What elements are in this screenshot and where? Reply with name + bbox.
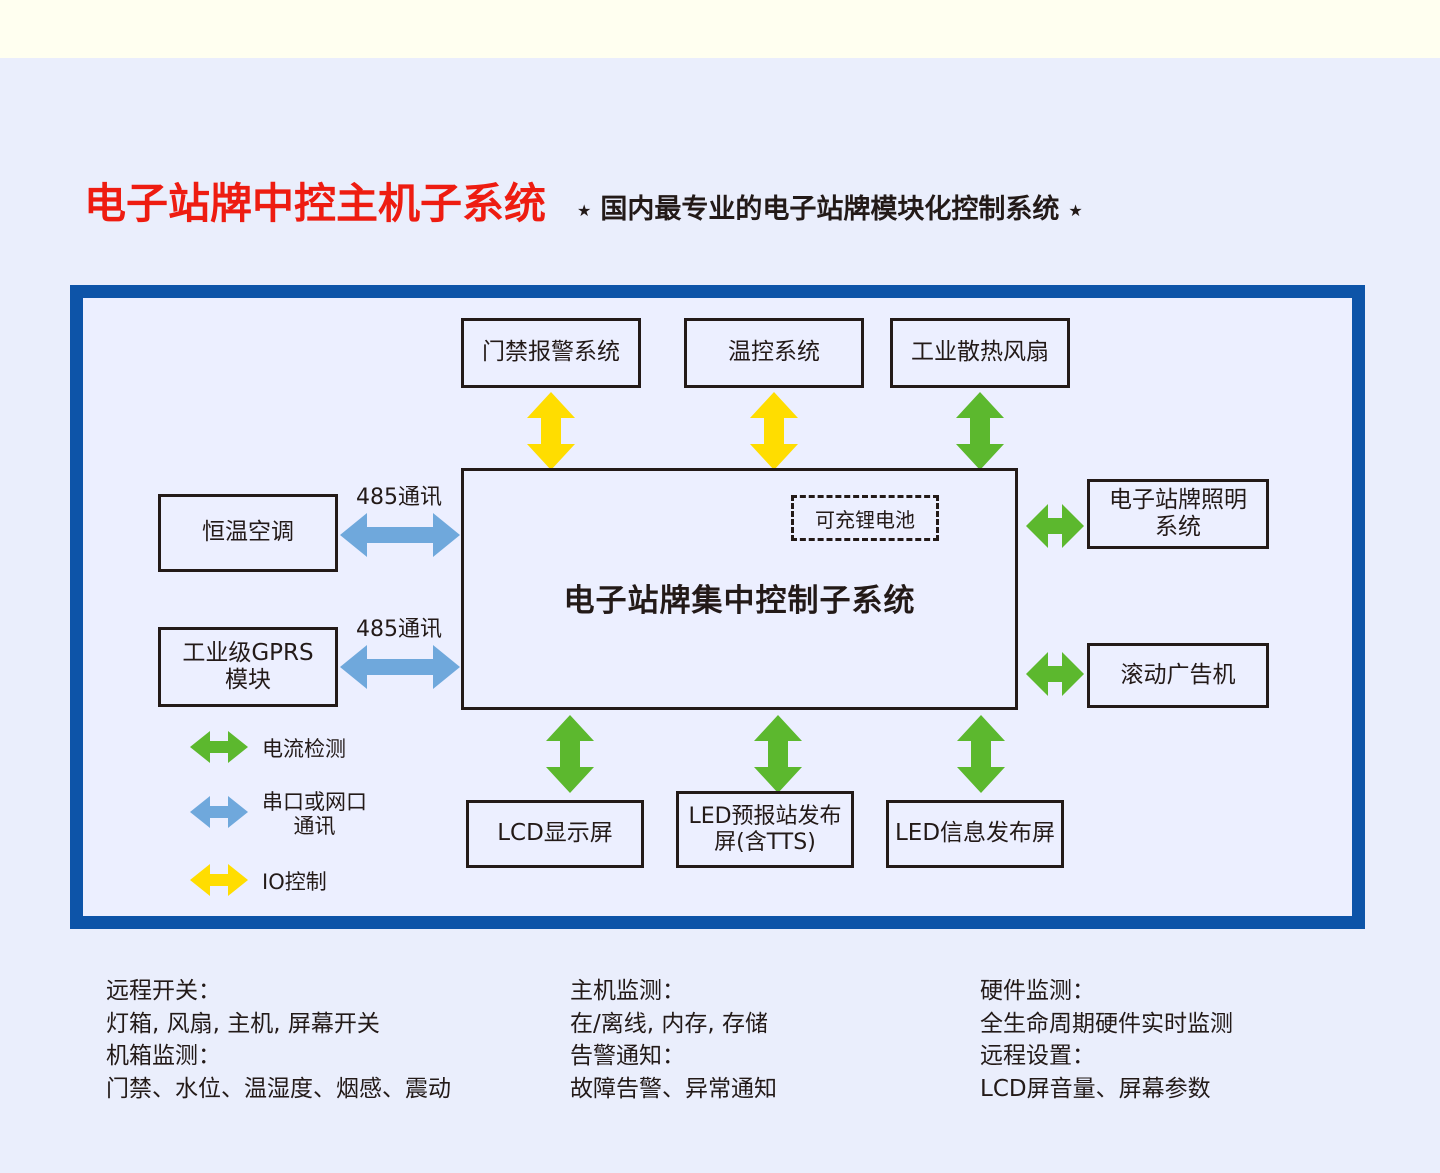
- legend-arrow-yellow-icon: [190, 863, 248, 901]
- node-label: LCD显示屏: [497, 820, 613, 847]
- battery-label: 可充锂电池: [815, 504, 915, 533]
- arrow-current-detect-fan: [954, 392, 1006, 470]
- node-label: 工业级GPRS: [182, 640, 313, 667]
- arrow-serial-gprs: [340, 644, 460, 690]
- node-led-forecast-screen[interactable]: LED预报站发布 屏(含TTS): [676, 791, 854, 868]
- node-label-line2: 屏(含TTS): [688, 830, 841, 856]
- arrow-current-detect-led-forecast: [752, 715, 804, 793]
- footer-line: 主机监测：: [570, 975, 777, 1008]
- footer-line: 故障告警、异常通知: [570, 1073, 777, 1106]
- node-industrial-cooling-fan[interactable]: 工业散热风扇: [890, 318, 1070, 388]
- star-icon-right: ★: [1068, 201, 1082, 220]
- footer-line: 在/离线, 内存, 存储: [570, 1008, 777, 1041]
- arrow-io-control-temperature: [748, 392, 800, 470]
- legend-label-line1: 串口或网口: [262, 790, 367, 814]
- node-label: 工业散热风扇: [911, 339, 1049, 366]
- legend-item-io-control: IO控制: [190, 863, 327, 901]
- node-label-line2: 系统: [1109, 514, 1247, 541]
- node-central-control-subsystem[interactable]: 可充锂电池 电子站牌集中控制子系统: [461, 468, 1018, 710]
- node-scrolling-ad-machine[interactable]: 滚动广告机: [1087, 643, 1269, 708]
- legend-arrow-green-icon: [190, 730, 248, 768]
- page-title-main: 电子站牌中控主机子系统: [84, 183, 546, 225]
- footer-column-hardware-monitoring: 硬件监测： 全生命周期硬件实时监测 远程设置： LCD屏音量、屏幕参数: [980, 975, 1233, 1106]
- footer-line: 硬件监测：: [980, 975, 1233, 1008]
- footer-line: 远程开关：: [106, 975, 451, 1008]
- arrow-current-detect-lcd: [544, 715, 596, 793]
- node-label-line2: 模块: [182, 667, 313, 694]
- footer-line: 门禁、水位、温湿度、烟感、震动: [106, 1073, 451, 1106]
- page-title: 电子站牌中控主机子系统 ★国内最专业的电子站牌模块化控制系统★: [84, 183, 1092, 225]
- link-label-485-gprs: 485通讯: [356, 611, 442, 643]
- node-label: 电子站牌照明: [1109, 487, 1247, 514]
- top-cream-strip: [0, 0, 1440, 58]
- node-temperature-control-system[interactable]: 温控系统: [684, 318, 864, 388]
- arrow-io-control-door-alarm: [525, 392, 577, 470]
- footer-line: 远程设置：: [980, 1040, 1233, 1073]
- arrow-current-detect-led-info: [955, 715, 1007, 793]
- footer-column-remote-switch: 远程开关： 灯箱, 风扇, 主机, 屏幕开关 机箱监测： 门禁、水位、温湿度、烟…: [106, 975, 451, 1106]
- center-node-label: 电子站牌集中控制子系统: [464, 575, 1015, 620]
- node-constant-temp-air-conditioner[interactable]: 恒温空调: [158, 494, 338, 572]
- node-led-info-screen[interactable]: LED信息发布屏: [886, 800, 1064, 868]
- legend-item-current-detect: 电流检测: [190, 730, 346, 768]
- legend-arrow-blue-icon: [190, 795, 248, 833]
- node-label: 滚动广告机: [1121, 662, 1236, 689]
- node-label: LED信息发布屏: [895, 820, 1055, 847]
- arrow-current-detect-lighting: [1026, 502, 1084, 550]
- node-rechargeable-battery: 可充锂电池: [791, 495, 939, 541]
- node-label: 恒温空调: [202, 519, 294, 546]
- legend-label: IO控制: [262, 870, 327, 894]
- node-label: 温控系统: [728, 339, 820, 366]
- legend-label: 电流检测: [262, 737, 346, 761]
- legend-label-line1: IO控制: [262, 870, 327, 894]
- legend-label-line2: 通讯: [262, 814, 367, 838]
- page-title-subtitle-text: 国内最专业的电子站牌模块化控制系统: [600, 194, 1059, 225]
- footer-line: 机箱监测：: [106, 1040, 451, 1073]
- arrow-serial-air-conditioner: [340, 512, 460, 558]
- footer-line: 告警通知：: [570, 1040, 777, 1073]
- page-title-subtitle: ★国内最专业的电子站牌模块化控制系统★: [568, 196, 1092, 223]
- legend-item-serial-network: 串口或网口 通讯: [190, 790, 367, 839]
- node-label: LED预报站发布: [688, 804, 841, 830]
- node-industrial-gprs-module[interactable]: 工业级GPRS 模块: [158, 627, 338, 707]
- legend-label: 串口或网口 通讯: [262, 790, 367, 839]
- legend-label-line1: 电流检测: [262, 737, 346, 761]
- link-label-485-air-conditioner: 485通讯: [356, 479, 442, 511]
- node-door-alarm-system[interactable]: 门禁报警系统: [461, 318, 641, 388]
- star-icon-left: ★: [577, 201, 591, 220]
- arrow-current-detect-ad-machine: [1026, 650, 1084, 698]
- footer-line: 全生命周期硬件实时监测: [980, 1008, 1233, 1041]
- footer-column-host-monitoring: 主机监测： 在/离线, 内存, 存储 告警通知： 故障告警、异常通知: [570, 975, 777, 1106]
- node-lcd-display-screen[interactable]: LCD显示屏: [466, 800, 644, 868]
- footer-line: LCD屏音量、屏幕参数: [980, 1073, 1233, 1106]
- footer-line: 灯箱, 风扇, 主机, 屏幕开关: [106, 1008, 451, 1041]
- node-label: 门禁报警系统: [482, 339, 620, 366]
- node-station-lighting-system[interactable]: 电子站牌照明 系统: [1087, 479, 1269, 549]
